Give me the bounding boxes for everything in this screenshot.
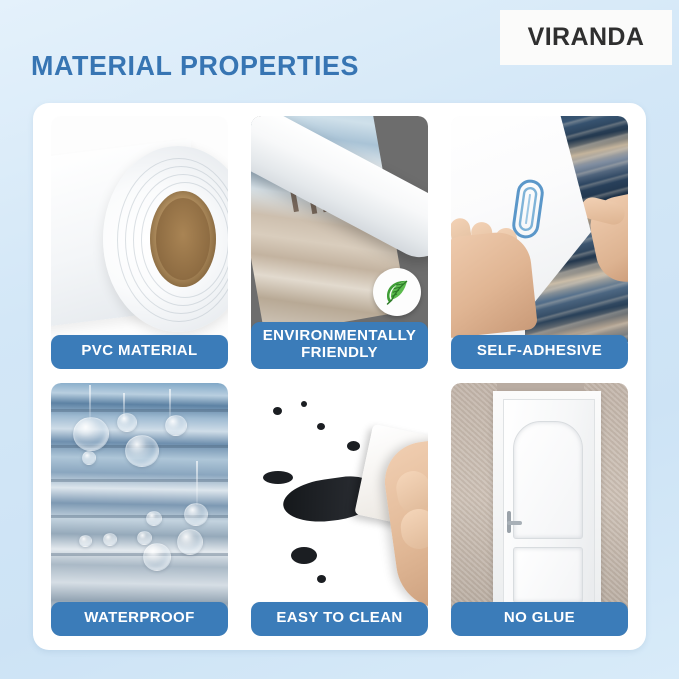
feature-card-waterproof: WATERPROOF [51,383,228,636]
easy-to-clean-image [251,383,428,636]
water-droplet [165,415,187,436]
features-panel: PVC MATERIAL [33,103,646,650]
feature-label-no-glue: NO GLUE [451,602,628,636]
self-adhesive-image [451,116,628,369]
feature-card-self-adhesive: SELF-ADHESIVE [451,116,628,369]
waterproof-image [51,383,228,636]
drop-trail [196,461,198,505]
water-droplet [184,503,208,526]
stain-spot [347,441,360,451]
wood-grain-line [51,553,228,556]
wood-grain-line [51,409,228,412]
door-panel-bottom [513,547,583,603]
infographic-page: VIRANDA MATERIAL PROPERTIES PVC MATERIAL [0,0,679,679]
brand-name: VIRANDA [528,23,645,52]
water-droplet [79,535,92,547]
stain-spot [317,575,326,583]
stain-spot [301,401,307,407]
pvc-roll-image [51,116,228,369]
stain-spot [291,547,317,564]
feature-label-self-adhesive: SELF-ADHESIVE [451,335,628,369]
door-handle-lever [507,521,522,525]
feature-label-easy-to-clean: EASY TO CLEAN [251,602,428,636]
water-droplet [146,511,162,526]
features-grid: PVC MATERIAL [51,116,628,636]
water-droplet [177,529,203,555]
wall-left [451,383,497,636]
water-droplet [117,413,137,432]
feature-card-no-glue: NO GLUE [451,383,628,636]
water-droplet [137,531,152,545]
drop-trail [89,385,91,419]
wood-grain-line [51,479,228,482]
feature-card-pvc-material: PVC MATERIAL [51,116,228,369]
door-panel-top [513,421,583,539]
water-droplet [143,543,171,571]
no-glue-image [451,383,628,636]
drop-trail [169,389,171,419]
leaf-icon [382,277,412,307]
feature-label-waterproof: WATERPROOF [51,602,228,636]
water-droplet [73,417,109,451]
water-droplet [125,435,159,467]
stain-spot [317,423,325,430]
peel-corner [423,202,428,237]
stain-spot [273,407,282,415]
feature-label-environmentally-friendly: ENVIRONMENTALLY FRIENDLY [251,322,428,369]
water-droplet [82,451,96,465]
feature-card-environmentally-friendly: ENVIRONMENTALLY FRIENDLY [251,116,428,369]
water-droplet [103,533,117,546]
feature-card-easy-to-clean: EASY TO CLEAN [251,383,428,636]
eco-leaf-badge [373,268,421,316]
brand-logo: VIRANDA [500,10,672,65]
feature-label-pvc-material: PVC MATERIAL [51,335,228,369]
stain-spot [263,471,293,484]
pvc-core-inner [156,198,210,280]
page-title: MATERIAL PROPERTIES [31,50,359,82]
